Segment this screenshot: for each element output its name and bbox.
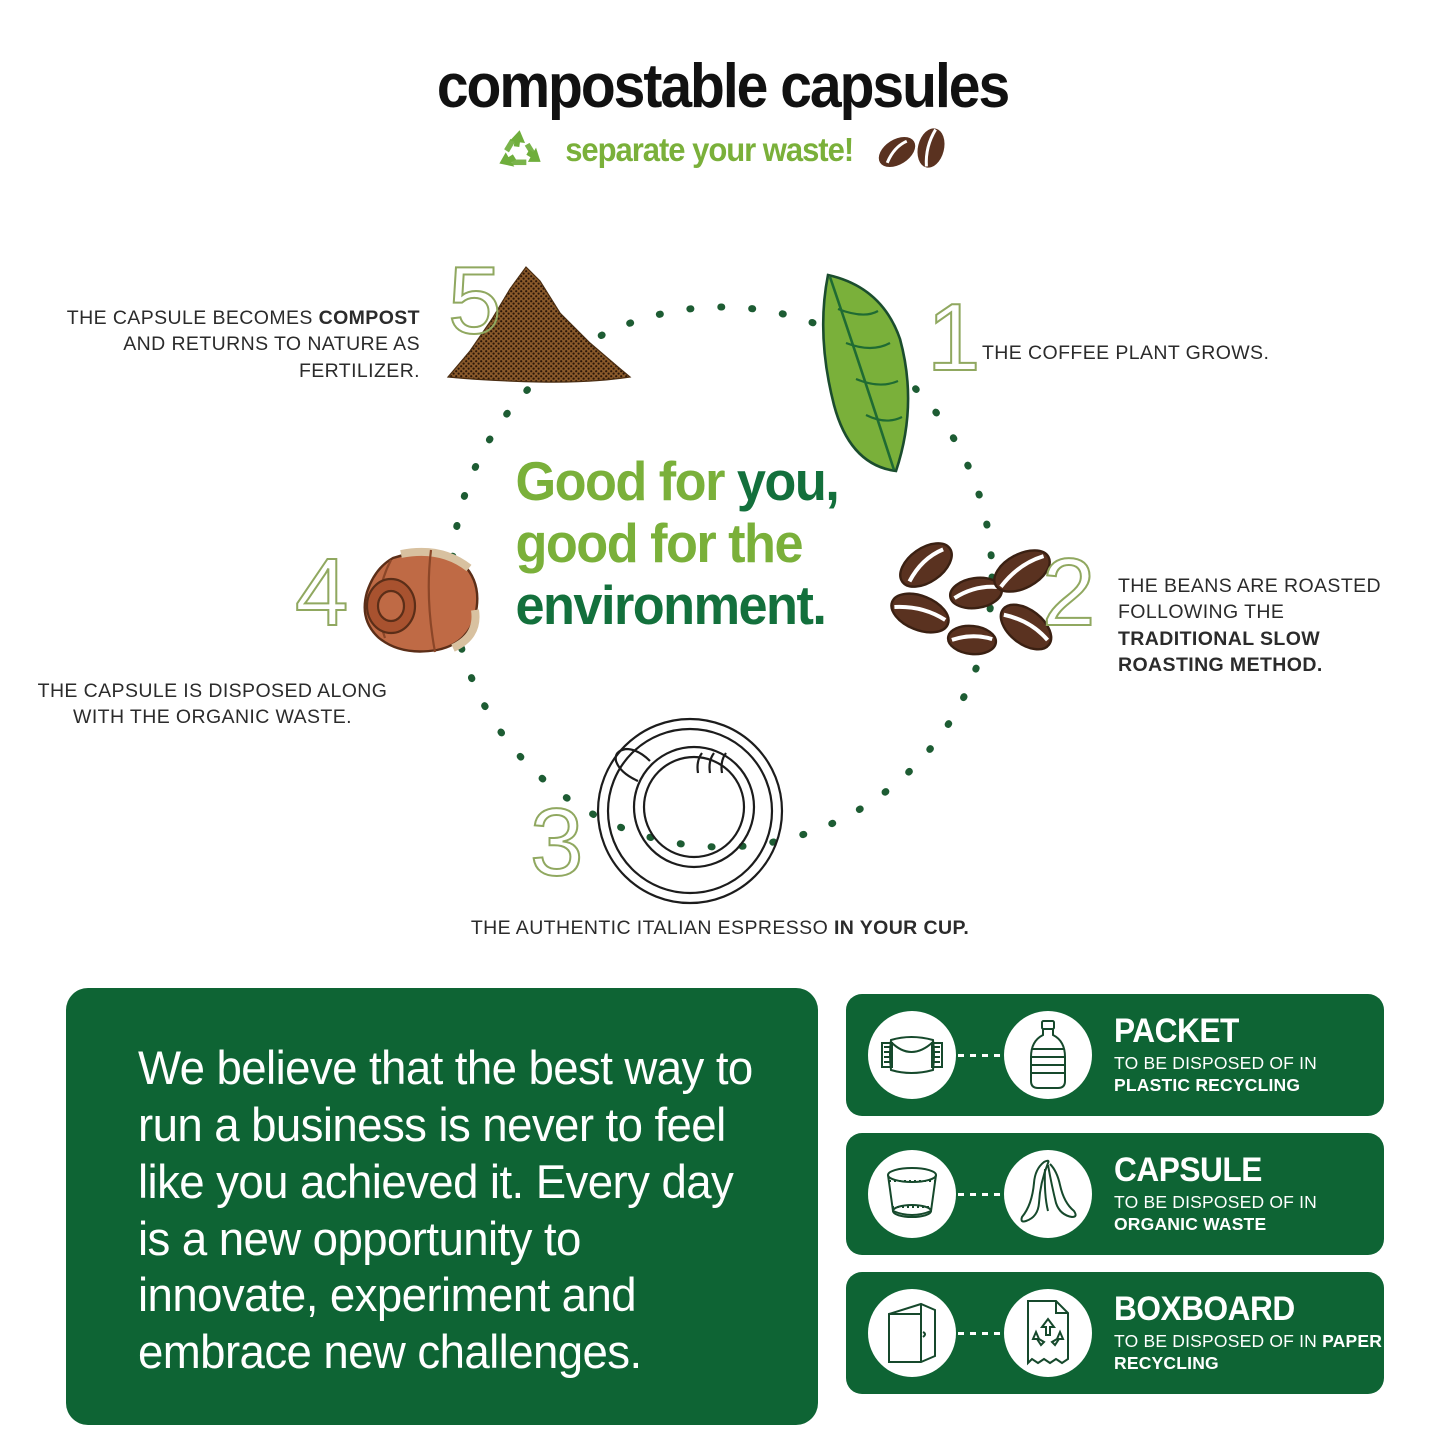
espresso-cup-icon bbox=[594, 715, 784, 910]
disposal-card-capsule[interactable]: CAPSULE TO BE DISPOSED OF IN ORGANIC WAS… bbox=[846, 1133, 1384, 1255]
capsule-icon bbox=[868, 1150, 956, 1238]
card-text-packet: PACKET TO BE DISPOSED OF IN PLASTIC RECY… bbox=[1114, 1014, 1384, 1096]
dashed-connector bbox=[958, 1332, 1002, 1335]
dashed-connector bbox=[958, 1193, 1002, 1196]
card-sub-plain-packet: TO BE DISPOSED OF IN bbox=[1114, 1053, 1317, 1073]
leaf-icon bbox=[800, 265, 920, 485]
step-5-text-a: THE CAPSULE BECOMES bbox=[67, 307, 319, 329]
header-subtitle-row: separate your waste! bbox=[0, 124, 1445, 176]
step-4-text: THE CAPSULE IS DISPOSED ALONG WITH THE O… bbox=[38, 680, 388, 728]
disposal-card-boxboard[interactable]: BOXBOARD TO BE DISPOSED OF IN PAPER RECY… bbox=[846, 1272, 1384, 1394]
step-3-text: THE AUTHENTIC ITALIAN ESPRESSO bbox=[471, 917, 834, 939]
coffee-packet-icon bbox=[868, 1011, 956, 1099]
recycle-icon bbox=[494, 127, 546, 173]
step-5-text-bold: COMPOST bbox=[319, 307, 420, 329]
coffee-capsule-icon bbox=[345, 540, 495, 665]
step-3-text-bold: IN YOUR CUP. bbox=[834, 917, 969, 939]
mission-quote-panel: We believe that the best way to run a bu… bbox=[66, 988, 818, 1425]
card-title-boxboard: BOXBOARD bbox=[1114, 1292, 1365, 1326]
step-caption-5: THE CAPSULE BECOMES COMPOST AND RETURNS … bbox=[30, 305, 420, 384]
card-text-capsule: CAPSULE TO BE DISPOSED OF IN ORGANIC WAS… bbox=[1114, 1153, 1384, 1235]
bottom-section: We believe that the best way to run a bu… bbox=[0, 982, 1445, 1445]
card-title-packet: PACKET bbox=[1114, 1014, 1365, 1048]
box-icon bbox=[868, 1289, 956, 1377]
step-number-3: 3 bbox=[530, 795, 583, 891]
step-1-text: THE COFFEE PLANT GROWS. bbox=[982, 342, 1269, 364]
card-sub-boxboard: TO BE DISPOSED OF IN PAPER RECYCLING bbox=[1114, 1331, 1384, 1374]
card-sub-bold-capsule: ORGANIC WASTE bbox=[1114, 1214, 1266, 1234]
step-caption-2: THE BEANS ARE ROASTED FOLLOWING THE TRAD… bbox=[1118, 573, 1418, 678]
card-sub-packet: TO BE DISPOSED OF IN PLASTIC RECYCLING bbox=[1114, 1053, 1384, 1096]
card-sub-bold-packet: PLASTIC RECYCLING bbox=[1114, 1075, 1300, 1095]
card-sub-plain-boxboard: TO BE DISPOSED OF IN bbox=[1114, 1331, 1322, 1351]
dashed-connector bbox=[958, 1054, 1002, 1057]
paper-recycling-icon bbox=[1004, 1289, 1092, 1377]
disposal-card-packet[interactable]: PACKET TO BE DISPOSED OF IN PLASTIC RECY… bbox=[846, 994, 1384, 1116]
disposal-cards: PACKET TO BE DISPOSED OF IN PLASTIC RECY… bbox=[846, 994, 1384, 1411]
header-subtitle: separate your waste! bbox=[566, 131, 854, 169]
card-sub-plain-capsule: TO BE DISPOSED OF IN bbox=[1114, 1192, 1317, 1212]
step-number-1: 1 bbox=[927, 290, 980, 386]
card-sub-capsule: TO BE DISPOSED OF IN ORGANIC WASTE bbox=[1114, 1192, 1384, 1235]
slogan-line2: good for the bbox=[516, 512, 915, 574]
plastic-bottle-icon bbox=[1004, 1011, 1092, 1099]
slogan-line3: environment. bbox=[516, 574, 915, 636]
card-text-boxboard: BOXBOARD TO BE DISPOSED OF IN PAPER RECY… bbox=[1114, 1292, 1384, 1374]
header: compostable capsules separate your waste… bbox=[0, 56, 1445, 176]
lifecycle-diagram: Good for you, good for the environment. … bbox=[0, 235, 1445, 955]
mission-quote-text: We believe that the best way to run a bu… bbox=[138, 1040, 759, 1381]
step-caption-3: THE AUTHENTIC ITALIAN ESPRESSO IN YOUR C… bbox=[430, 915, 1010, 941]
step-number-2: 2 bbox=[1042, 545, 1095, 641]
coffee-beans-icon bbox=[873, 124, 951, 176]
step-caption-1: THE COFFEE PLANT GROWS. bbox=[982, 340, 1312, 366]
slogan-line1-light: Good for bbox=[516, 450, 737, 512]
step-number-5: 5 bbox=[448, 253, 501, 349]
step-2-text: THE BEANS ARE ROASTED FOLLOWING THE bbox=[1118, 575, 1381, 623]
step-2-text-bold: TRADITIONAL SLOW ROASTING METHOD. bbox=[1118, 628, 1323, 676]
step-number-4: 4 bbox=[295, 545, 348, 641]
banana-peel-icon bbox=[1004, 1150, 1092, 1238]
card-title-capsule: CAPSULE bbox=[1114, 1153, 1365, 1187]
step-caption-4: THE CAPSULE IS DISPOSED ALONG WITH THE O… bbox=[35, 678, 390, 731]
step-5-text-b: AND RETURNS TO NATURE AS FERTILIZER. bbox=[123, 333, 420, 381]
page-title: compostable capsules bbox=[58, 56, 1387, 118]
